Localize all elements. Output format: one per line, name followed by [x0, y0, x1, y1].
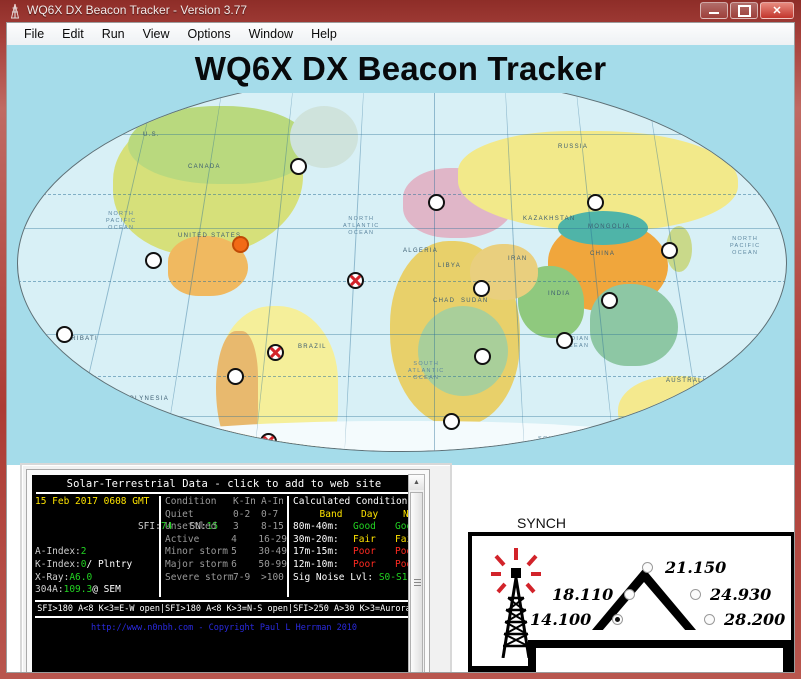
source-credit-link[interactable]: http://www.n0nbh.com - Copyright Paul L …: [32, 618, 416, 633]
map-label: INDIA: [548, 291, 571, 297]
freq-18110-radio[interactable]: [624, 589, 635, 600]
map-label: AUSTRALIA: [666, 378, 711, 384]
land-africa-central: [418, 306, 508, 396]
map-label: ALGERIA: [403, 248, 438, 254]
condition-header: Condition: [165, 496, 233, 509]
beacon-russia[interactable]: [587, 194, 604, 211]
k-index-suffix: / Plntry: [87, 559, 133, 570]
main-content: WQ6X DX Beacon Tracker: [7, 45, 794, 672]
parallel: [18, 334, 786, 335]
propagation-tip: SFI>180 A<8 K<3=E-W open|SFI>180 A<8 K>3…: [32, 602, 416, 614]
solar-304a-row: 304A:109.3@ SEM: [35, 584, 159, 597]
freq-24930-label[interactable]: 24.930: [710, 585, 771, 604]
calculated-conditions-column: Calculated Conditions BandDayNight 80m-4…: [287, 496, 416, 597]
map-ocean-label: SOUTHERN OCEAN: [538, 436, 608, 443]
synch-panel[interactable]: 21.150 18.110 24.930 14.100 28.200: [468, 532, 794, 672]
solar-k-index-row: K-Index:0/ Plntry: [35, 559, 159, 572]
beacon-venezuela[interactable]: [267, 344, 284, 361]
beacon-peru[interactable]: [227, 368, 244, 385]
kin-header: K-In: [233, 496, 261, 509]
menu-run[interactable]: Run: [93, 25, 134, 43]
menu-options[interactable]: Options: [179, 25, 240, 43]
noise-label: Sig Noise Lvl:: [293, 572, 373, 585]
map-label: U.S.: [143, 132, 160, 138]
freq-24930-radio[interactable]: [690, 589, 701, 600]
geomag-header-row: ConditionK-InA-In: [165, 496, 287, 509]
band-header-row: BandDayNight: [293, 509, 416, 522]
band-condition-rows: 80m-40m:GoodGood30m-20m:FairFair17m-15m:…: [293, 521, 416, 571]
schematic-bar-right: [783, 640, 791, 672]
geomag-row: Severe storm7-9>100: [165, 572, 287, 585]
map-ocean-label: SOUTHATLANTICOCEAN: [408, 361, 445, 382]
menu-window[interactable]: Window: [240, 25, 302, 43]
a-index-value: 2: [81, 546, 87, 557]
app-banner: WQ6X DX Beacon Tracker: [7, 45, 794, 93]
scrollbar-thumb[interactable]: [410, 492, 423, 672]
synch-group-label: SYNCH: [515, 515, 568, 531]
menu-help[interactable]: Help: [302, 25, 346, 43]
close-button[interactable]: ✕: [760, 2, 794, 19]
map-label: RUSSIA: [558, 144, 588, 150]
solar-data-panel[interactable]: Solar-Terrestrial Data - click to add to…: [20, 463, 452, 672]
antenna-tower-icon: [8, 3, 22, 19]
a-index-label: A-Index:: [35, 546, 81, 557]
beacon-south-africa[interactable]: [443, 413, 460, 430]
globe-projection[interactable]: CANADAUNITED STATESBRAZILRUSSIACHINAINDI…: [17, 75, 787, 452]
freq-21150-label[interactable]: 21.150: [665, 558, 726, 577]
menu-view[interactable]: View: [134, 25, 179, 43]
map-label: LIBYA: [438, 263, 461, 269]
solar-xray-row: X-Ray:A6.0: [35, 572, 159, 585]
xray-value: A6.0: [69, 572, 92, 583]
freq-14100-radio[interactable]: [612, 614, 623, 625]
parallel: [18, 134, 786, 135]
solar-indices-column: 15 Feb 2017 0608 GMT SFI:74 SN:15 A-Inde…: [35, 496, 159, 597]
title-bar[interactable]: WQ6X DX Beacon Tracker - Version 3.77 ✕: [0, 0, 801, 22]
schematic-bar-top: [528, 640, 791, 648]
beacon-argentina[interactable]: [260, 433, 277, 450]
parallel: [18, 416, 786, 417]
menu-file[interactable]: File: [15, 25, 53, 43]
f304-suffix: @ SEM: [92, 584, 121, 595]
map-ocean-label: SOUTHPACIFICOCEAN: [114, 426, 144, 447]
map-ocean-label: NORTHPACIFICOCEAN: [730, 236, 760, 257]
solar-datetime: 15 Feb 2017 0608 GMT: [35, 496, 159, 509]
map-label: MONGOLIA: [588, 224, 631, 230]
solar-panel-scrollbar[interactable]: ▲ ▼: [408, 474, 425, 672]
beacon-us-west[interactable]: [145, 252, 162, 269]
geomag-rows: Quiet0-20-7Unsettled38-15Active416-29Min…: [165, 509, 287, 585]
beacon-israel[interactable]: [473, 280, 490, 297]
scroll-up-arrow[interactable]: ▲: [409, 475, 424, 490]
band-row: 12m-10m:PoorPoor: [293, 559, 416, 572]
beacon-japan[interactable]: [661, 242, 678, 259]
map-label: FRENCH POLYNESIA: [88, 396, 169, 402]
solar-sfi-row: SFI:74 SN:15: [35, 509, 159, 547]
land-canada: [128, 106, 308, 184]
beacon-europe[interactable]: [428, 194, 445, 211]
beacon-china-se[interactable]: [601, 292, 618, 309]
geomag-row: Unsettled38-15: [165, 521, 287, 534]
beacon-kenya[interactable]: [474, 348, 491, 365]
map-ocean-label: NORTHPACIFICOCEAN: [106, 211, 136, 232]
map-label: IRAN: [508, 256, 528, 262]
beacon-us-east[interactable]: [232, 236, 249, 253]
band-row: 80m-40m:GoodGood: [293, 521, 416, 534]
solar-header: Solar-Terrestrial Data - click to add to…: [32, 475, 416, 490]
page-title: WQ6X DX Beacon Tracker: [195, 50, 607, 88]
geomag-row: Quiet0-20-7: [165, 509, 287, 522]
freq-18110-label[interactable]: 18.110: [552, 585, 613, 604]
equator: [18, 281, 786, 283]
freq-21150-radio[interactable]: [642, 562, 653, 573]
map-ocean-label: NORTHATLANTICOCEAN: [343, 216, 380, 237]
scrollbar-grip: [414, 579, 421, 587]
band-row: 30m-20m:FairFair: [293, 534, 416, 547]
map-label: UNITED STATES: [178, 233, 241, 239]
sfi-label: SFI:: [138, 521, 161, 532]
solar-a-index-row: A-Index:2: [35, 546, 159, 559]
application-window: WQ6X DX Beacon Tracker - Version 3.77 ✕ …: [0, 0, 801, 679]
menu-bar: File Edit Run View Options Window Help: [7, 23, 794, 46]
band-row: 17m-15m:PoorPoor: [293, 546, 416, 559]
meridian: [434, 76, 435, 451]
noise-value: S0-S1: [379, 572, 408, 585]
freq-14100-label[interactable]: 14.100: [530, 610, 591, 629]
map-label: CHAD: [433, 298, 455, 304]
freq-28200-radio[interactable]: [704, 614, 715, 625]
beacon-srilanka[interactable]: [556, 332, 573, 349]
schematic-bar-left: [472, 666, 534, 672]
map-label: KAZAKHSTAN: [523, 216, 576, 222]
f304-label: 304A:: [35, 584, 64, 595]
solar-data-frame: Solar-Terrestrial Data - click to add to…: [26, 469, 430, 672]
geomag-row: Major storm650-99: [165, 559, 287, 572]
geomag-row: Active416-29: [165, 534, 287, 547]
map-label: SUDAN: [461, 298, 489, 304]
solar-terrestrial-image[interactable]: Solar-Terrestrial Data - click to add to…: [32, 475, 416, 672]
noise-row: Sig Noise Lvl: S0-S1: [293, 572, 416, 585]
window-client-area: File Edit Run View Options Window Help W…: [6, 22, 795, 673]
band-header: Band: [301, 509, 361, 522]
menu-edit[interactable]: Edit: [53, 25, 93, 43]
xray-label: X-Ray:: [35, 572, 69, 583]
window-title: WQ6X DX Beacon Tracker - Version 3.77: [27, 3, 247, 17]
k-index-label: K-Index:: [35, 559, 81, 570]
geomag-row: Minor storm530-49: [165, 546, 287, 559]
beacon-pacific-hawaii[interactable]: [56, 326, 73, 343]
map-label: BRAZIL: [298, 344, 327, 350]
calc-conditions-title: Calculated Conditions: [293, 496, 416, 509]
day-header: Day: [361, 509, 403, 522]
beacon-west-africa[interactable]: [347, 272, 364, 289]
beacon-greenland[interactable]: [290, 158, 307, 175]
geomag-condition-column: ConditionK-InA-In Quiet0-20-7Unsettled38…: [159, 496, 287, 597]
minimize-button[interactable]: [700, 2, 728, 19]
beacon-australia[interactable]: [635, 414, 652, 431]
f304-value: 109.3: [64, 584, 93, 595]
freq-28200-label[interactable]: 28.200: [724, 610, 785, 629]
tropic-of-cancer: [18, 194, 786, 196]
map-label: CANADA: [188, 164, 221, 170]
map-label: CHINA: [590, 251, 615, 257]
ain-header: A-In: [261, 496, 284, 509]
maximize-button[interactable]: [730, 2, 758, 19]
beacon-new-zealand[interactable]: [725, 445, 742, 452]
world-map-panel[interactable]: WQ6X DX Beacon Tracker: [7, 45, 794, 465]
